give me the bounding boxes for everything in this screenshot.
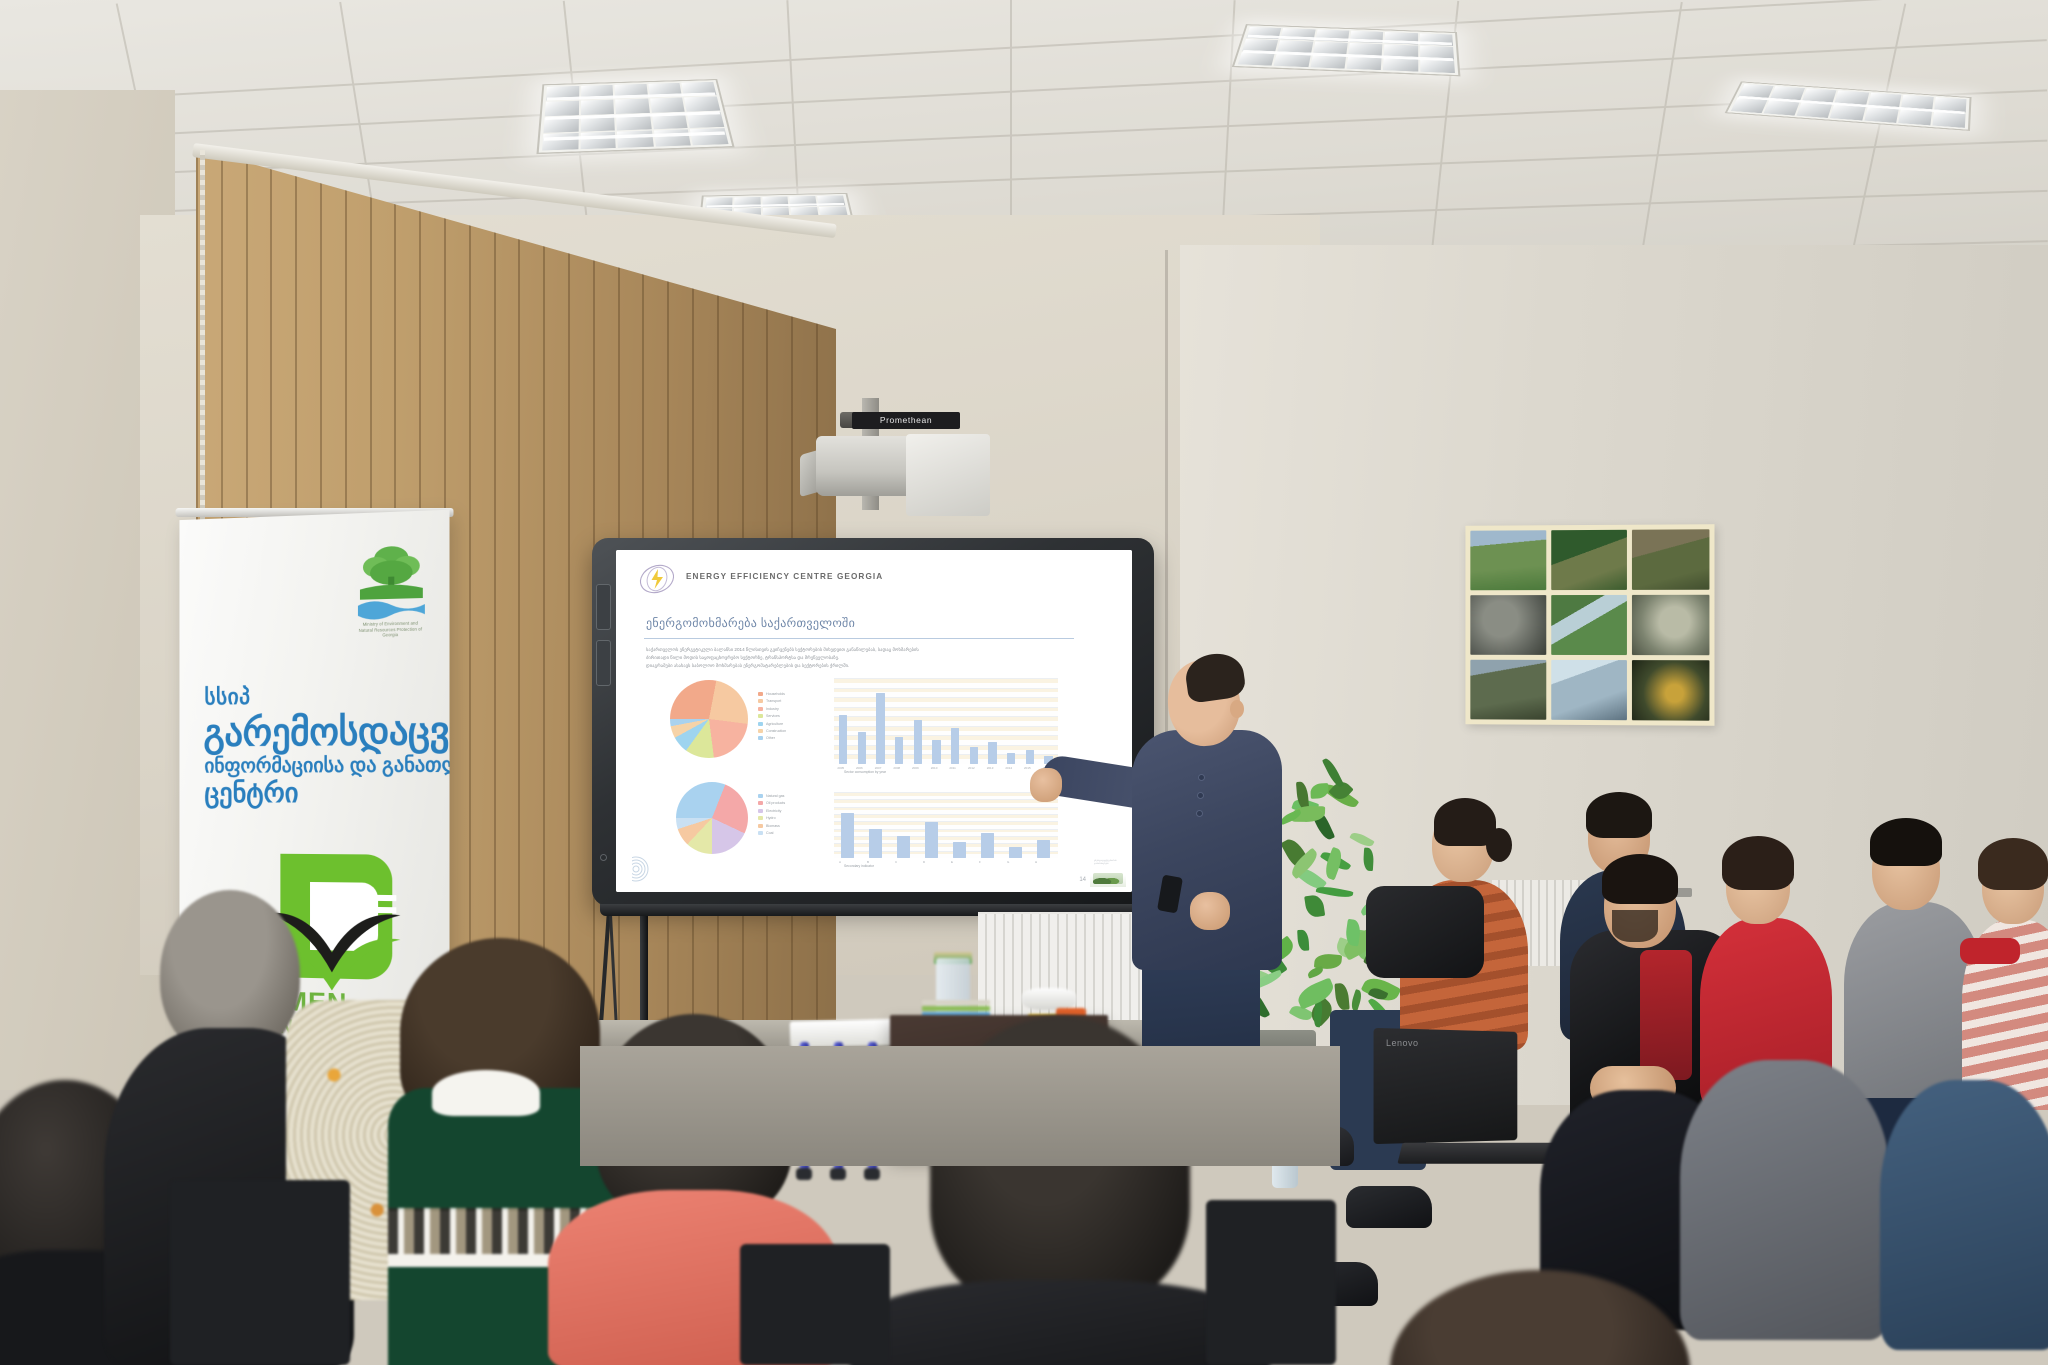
photo-aerial-village-island [1551,530,1627,590]
chart-bar [951,728,960,764]
tree-icon [360,541,423,600]
book [922,1006,990,1011]
chart-bar [869,829,882,858]
chart-tick-label: E [951,860,953,864]
blind-slat [568,148,570,1053]
sweater-button [1198,774,1205,781]
chart-tick-label: H [1035,860,1037,864]
legend-label: Households [766,692,785,696]
photo-dragonfly-macro [1632,660,1709,721]
chart-tick-label: A [839,860,841,864]
hair-bun [1486,828,1512,862]
legend-swatch [758,831,763,835]
smartboard-side-buttons[interactable] [596,584,611,734]
chart-gridline [834,754,1058,755]
banner-line-3: ინფორმაციისა და განათლების [204,752,449,778]
chart-tick-label: D [923,860,925,864]
chart-bar [1009,847,1022,858]
legend-swatch [758,794,763,798]
legend-row: Hydro [758,816,785,820]
chart-bar [1007,753,1016,764]
legend-row: Agriculture [758,722,786,726]
ceiling-light-fixture [536,79,734,154]
slide-thumbnail: ენერგოეფექტურობის ღონისძიებები [1090,857,1126,887]
chart-bar [895,737,904,764]
legend-row: Oil products [758,801,785,805]
legend-label: Transport [766,699,781,703]
projected-slide-surface[interactable]: ENERGY EFFICIENCY CENTRE GEORGIA ენერგომ… [616,550,1132,892]
chart-tick-label: 2011 [949,766,955,770]
legend-label: Coal [766,831,773,835]
legend-swatch [758,699,763,703]
photo-dense-forest-canopy [1470,595,1546,655]
plant-leaf [1298,930,1310,951]
smartboard-button[interactable] [596,640,611,686]
photo-canyon-overlook [1470,660,1546,720]
bar-chart-caption: Sector consumption by year [844,770,886,774]
legend-row: Coal [758,831,785,835]
presenter-sweater [1132,730,1282,970]
chart-tick-label: B [867,860,869,864]
shirt-collar [432,1070,540,1116]
bar-chart-sector-by-year: 2005200620072008200920102011201220132014… [834,678,1058,764]
chair[interactable] [1206,1200,1336,1365]
photo-winding-river-delta [1551,595,1627,655]
legend-swatch [758,809,763,813]
chart-gridline [834,851,1058,852]
projector-mirror-panel [906,434,990,516]
ministry-logo: Ministry of Environment and Natural Reso… [354,541,427,636]
chart-bar [876,693,885,764]
slide-number: 14 [1079,877,1086,883]
beard [1612,910,1658,942]
banner-line-2: გარემოსდაცვითი [203,708,449,756]
slide-heading-rule [644,638,1074,639]
wall-photo-grid [1465,524,1714,726]
slide-paragraph: საქართველოს ენერგეტიკული ბალანსი 2014 წლ… [646,646,1084,654]
chart-gridline [834,726,1058,727]
legend-label: Natural gas [766,794,784,798]
legend-swatch [758,736,763,740]
chart-bar [858,732,867,764]
chair[interactable] [170,1180,350,1365]
chart-gridline [834,843,1058,844]
plant-leaf [1349,989,1363,1011]
chart-bar [932,740,941,764]
chart-bar [1037,840,1050,858]
legend-row: Biomass [758,824,785,828]
banner-line-4: ცენტრი [204,778,298,809]
legend-row: Industry [758,707,786,711]
legend-label: Industry [766,707,779,711]
laptop-brand-label: Lenovo [1386,1038,1419,1048]
book [922,1000,990,1005]
chart-gridline [834,735,1058,736]
legend-label: Oil products [766,801,785,805]
pie-chart-sector-consumption [670,680,748,758]
legend-swatch [758,722,763,726]
legend-label: Biomass [766,824,780,828]
presenter-ear [1230,700,1244,718]
interactive-whiteboard[interactable]: ENERGY EFFICIENCY CENTRE GEORGIA ენერგომ… [592,538,1154,906]
chart-tick-label: C [895,860,897,864]
chart-tick-label: F [979,860,981,864]
blind-slat [469,148,471,1053]
scarf [1960,938,2020,964]
pie-chart-legend: Natural gasOil productsElectricityHydroB… [758,794,785,835]
chart-gridline [834,707,1058,708]
chart-gridline [834,836,1058,837]
slide-paragraph: ძირითადი წილი მოდის საყოფაცხოვრებო სექტო… [646,654,1084,662]
plant-leaf [1305,894,1326,918]
photo-lichen-rock-closeup [1632,595,1709,655]
legend-label: Hydro [766,816,776,820]
presenter-hand [1190,892,1230,930]
chart-bar [981,833,994,859]
blind-slat [518,148,520,1053]
plant-leaf [1315,885,1353,901]
photo-waterfall [1551,660,1627,720]
chart-gridline [834,807,1058,808]
chart-tick-label: 2015 [1024,766,1031,770]
sweater-button [1197,792,1204,799]
chart-tick-label: 2005 [837,766,844,770]
legend-label: Electricity [766,809,781,813]
blind-slat [494,148,496,1053]
legend-row: Natural gas [758,794,785,798]
photo-rocky-terrain [1632,529,1709,590]
projector-body [816,436,916,496]
red-shirt [1640,950,1692,1080]
chart-bar [970,747,979,764]
plant-leaf [1310,783,1329,799]
legend-swatch [758,801,763,805]
chart-tick-label: G [1007,860,1009,864]
chart-gridline [834,688,1058,689]
projector-brand-label: Promethean [852,412,960,429]
chart-bar [914,720,923,764]
floor [580,1046,1340,1166]
chart-bar [925,822,938,858]
photo-green-valley [1470,530,1546,590]
chart-bar [1026,750,1035,764]
chart-tick-label: 2009 [912,766,919,770]
chart-tick-label: 2008 [893,766,900,770]
legend-row: Electricity [758,809,785,813]
legend-swatch [758,692,763,696]
legend-row: Transport [758,699,786,703]
draped-jacket [1366,886,1484,978]
chart-tick-label: 2012 [968,766,975,770]
legend-row: Households [758,692,786,696]
legend-swatch [758,707,763,711]
easel-foot [864,1168,880,1180]
chart-tick-label: 2014 [1005,766,1012,770]
slide-body-text: საქართველოს ენერგეტიკული ბალანსი 2014 წლ… [646,646,1084,670]
easel-foot [830,1168,846,1180]
chart-gridline [834,697,1058,698]
plant-leaf [1362,847,1374,870]
plant-leaf [1349,830,1374,849]
legend-row: Services [758,714,786,718]
chart-gridline [834,829,1058,830]
chair[interactable] [740,1244,890,1365]
legend-swatch [758,816,763,820]
legend-row: Other [758,736,786,740]
chart-tick-label: 2007 [875,766,882,770]
legend-swatch [758,714,763,718]
slide-org-title: ENERGY EFFICIENCY CENTRE GEORGIA [686,572,883,581]
chart-bar [897,836,910,858]
plant-leaf [1306,965,1324,978]
smartboard-button[interactable] [596,584,611,630]
legend-label: Agriculture [766,722,783,726]
smartboard-power-led [600,854,607,861]
chart-bar [841,813,854,858]
bar-chart-caption: Secondary indicator [844,864,874,868]
legend-swatch [758,729,763,733]
slide-heading: ენერგომოხმარება საქართველოში [646,616,855,630]
ministry-caption: Ministry of Environment and Natural Reso… [356,620,425,638]
chart-tick-label: 2013 [987,766,994,770]
chart-bar [953,842,966,858]
chart-tick-label: 2010 [931,766,938,770]
chart-gridline [834,792,1058,793]
plant-leaf [1335,982,1350,1009]
chart-bar [839,715,848,764]
slide-paragraph: დიაგრამები ასახავს საბოლოო მოხმარებას ენ… [646,662,1084,670]
easel-foot [796,1168,812,1180]
legend-label: Services [766,714,780,718]
pie-chart-energy-carrier [676,782,748,854]
legend-swatch [758,824,763,828]
chart-gridline [834,678,1058,679]
bar-chart-secondary-indicator: ABCDEFGH [834,792,1058,858]
chart-gridline [834,716,1058,717]
spiral-decoration-icon [632,856,658,882]
slide-thumbnail-caption: ენერგოეფექტურობის ღონისძიებები [1094,860,1122,866]
chart-gridline [834,814,1058,815]
chart-bar [988,742,997,764]
shoe [1346,1186,1432,1228]
chart-gridline [834,821,1058,822]
presentation-slide: ENERGY EFFICIENCY CENTRE GEORGIA ენერგომ… [616,550,1132,892]
eecg-swirl-logo-icon [638,562,676,596]
legend-row: Construction [758,729,786,733]
slide-thumbnail-image [1093,873,1123,884]
presenter-hand [1030,768,1062,802]
chart-gridline [834,799,1058,800]
sweater-button [1196,810,1203,817]
chart-tick-label: 2006 [856,766,863,770]
water-band-icon [358,594,425,620]
pie-chart-legend: HouseholdsTransportIndustryServicesAgric… [758,692,786,740]
banner-line-1: სსიპ [204,684,250,710]
legend-label: Other [766,736,775,740]
blind-slat [543,148,545,1053]
room-photograph: Ministry of Environment and Natural Reso… [0,0,2048,1365]
legend-label: Construction [766,729,786,733]
chart-gridline [834,745,1058,746]
